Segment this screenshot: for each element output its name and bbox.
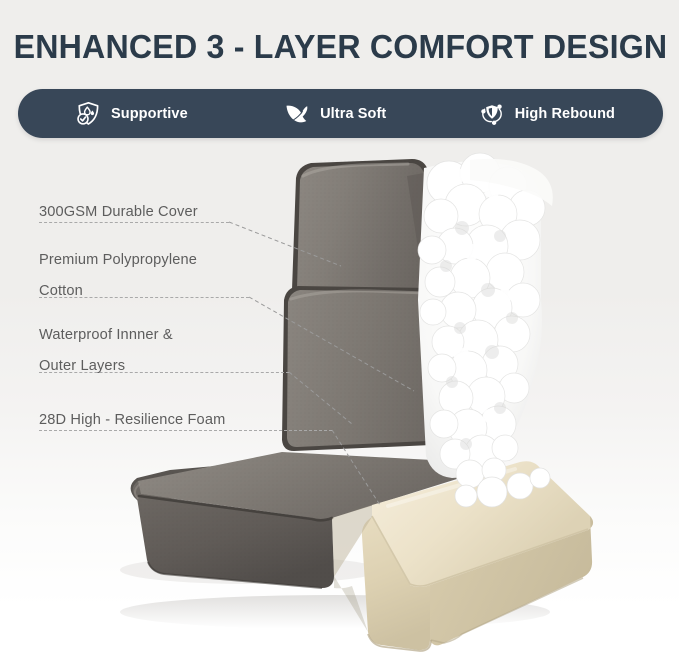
callout-rule-waterproof-layers: [39, 372, 289, 373]
callout-rule-polypropylene-cotton: [39, 297, 249, 298]
callout-polypropylene-cotton-line-2: Cotton: [39, 276, 197, 307]
callout-resilience-foam: 28D High - Resilience Foam: [39, 405, 225, 436]
callout-resilience-foam-line-1: 28D High - Resilience Foam: [39, 405, 225, 436]
callout-waterproof-layers-line-2: Outer Layers: [39, 351, 173, 382]
callout-durable-cover: 300GSM Durable Cover: [39, 197, 198, 228]
callout-rule-durable-cover: [39, 222, 229, 223]
callout-rule-resilience-foam: [39, 430, 332, 431]
infographic-page: ENHANCED 3 - LAYER COMFORT DESIGN Suppor…: [0, 0, 679, 660]
callout-durable-cover-line-1: 300GSM Durable Cover: [39, 197, 198, 228]
callout-polypropylene-cotton-line-1: Premium Polypropylene: [39, 245, 197, 276]
polyester-cotton-fill: [418, 153, 553, 488]
callout-waterproof-layers-line-1: Waterproof Innner &: [39, 320, 173, 351]
